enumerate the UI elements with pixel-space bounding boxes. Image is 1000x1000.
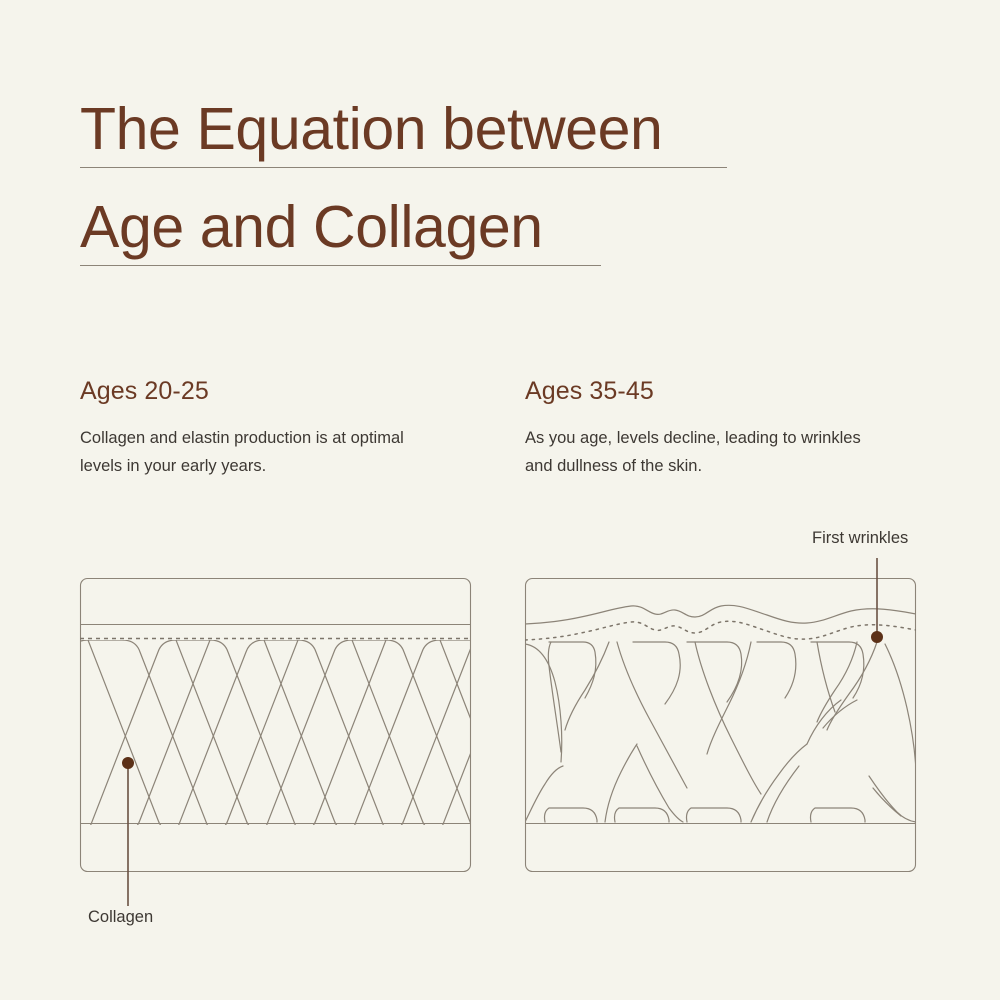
collagen-annotation-label: Collagen [88, 908, 153, 927]
collagen-fiber-fragment [525, 766, 563, 822]
title-line-1: The Equation between [80, 100, 940, 167]
column-young-body: Collagen and elastin production is at op… [80, 424, 435, 481]
collagen-fiber [88, 640, 298, 832]
diagram-young-skin [60, 520, 500, 945]
column-aged-heading: Ages 35-45 [525, 378, 925, 406]
title-line-2: Age and Collagen [80, 168, 940, 265]
collagen-fiber-fragment [617, 642, 687, 788]
collagen-fiber-fragment [767, 766, 799, 822]
collagen-fiber-fragment [817, 642, 857, 722]
collagen-fiber-fragment [873, 788, 901, 816]
degraded-collagen-fibers [525, 642, 916, 822]
column-aged: Ages 35-45 As you age, levels decline, l… [525, 378, 925, 480]
column-young-heading: Ages 20-25 [80, 378, 480, 406]
title-divider-2 [80, 265, 601, 266]
collagen-fiber-fragment [549, 642, 596, 698]
collagen-fiber-fragment [707, 642, 751, 754]
collagen-fiber [176, 640, 386, 832]
collagen-fiber-fragment [757, 642, 796, 698]
diagram-aged-skin [505, 520, 945, 945]
infographic-page: The Equation between Age and Collagen Ag… [0, 0, 1000, 1000]
first-wrinkles-annotation-label: First wrinkles [812, 529, 908, 548]
column-young: Ages 20-25 Collagen and elastin producti… [80, 378, 480, 480]
collagen-fiber-fragment [548, 642, 561, 752]
page-title: The Equation between Age and Collagen [80, 100, 940, 266]
wrinkles-dot-marker [871, 631, 883, 643]
collagen-fiber-fragment [869, 776, 916, 822]
collagen-fiber [264, 640, 474, 832]
collagen-fiber [264, 640, 474, 832]
collagen-fiber-fragment [605, 744, 637, 822]
collagen-fiber [88, 640, 298, 832]
collagen-fiber-fragment [687, 808, 742, 822]
skin-container-outline [81, 579, 471, 872]
collagen-fiber-fragment [751, 744, 807, 822]
collagen-fiber-lattice [60, 640, 500, 832]
collagen-fiber-fragment [823, 700, 857, 728]
collagen-fiber-fragment [695, 642, 761, 794]
collagen-fiber-fragment [525, 644, 562, 762]
collagen-fiber-fragment [615, 808, 670, 822]
collagen-fiber-fragment [565, 642, 609, 730]
collagen-fiber [176, 640, 386, 832]
collagen-fiber-fragment [687, 642, 742, 702]
collagen-fiber-fragment [827, 642, 877, 730]
wrinkled-epidermis-line [525, 605, 916, 624]
column-aged-body: As you age, levels decline, leading to w… [525, 424, 880, 481]
collagen-fiber-fragment [811, 808, 866, 822]
collagen-fiber-fragment [637, 746, 683, 822]
collagen-dot-marker [122, 757, 134, 769]
dermal-junction-dotted-line [525, 621, 916, 640]
collagen-fiber-fragment [545, 808, 598, 822]
collagen-fiber-fragment [633, 642, 680, 704]
collagen-fiber-fragment [885, 644, 916, 770]
collagen-fiber-fragment [817, 642, 835, 712]
